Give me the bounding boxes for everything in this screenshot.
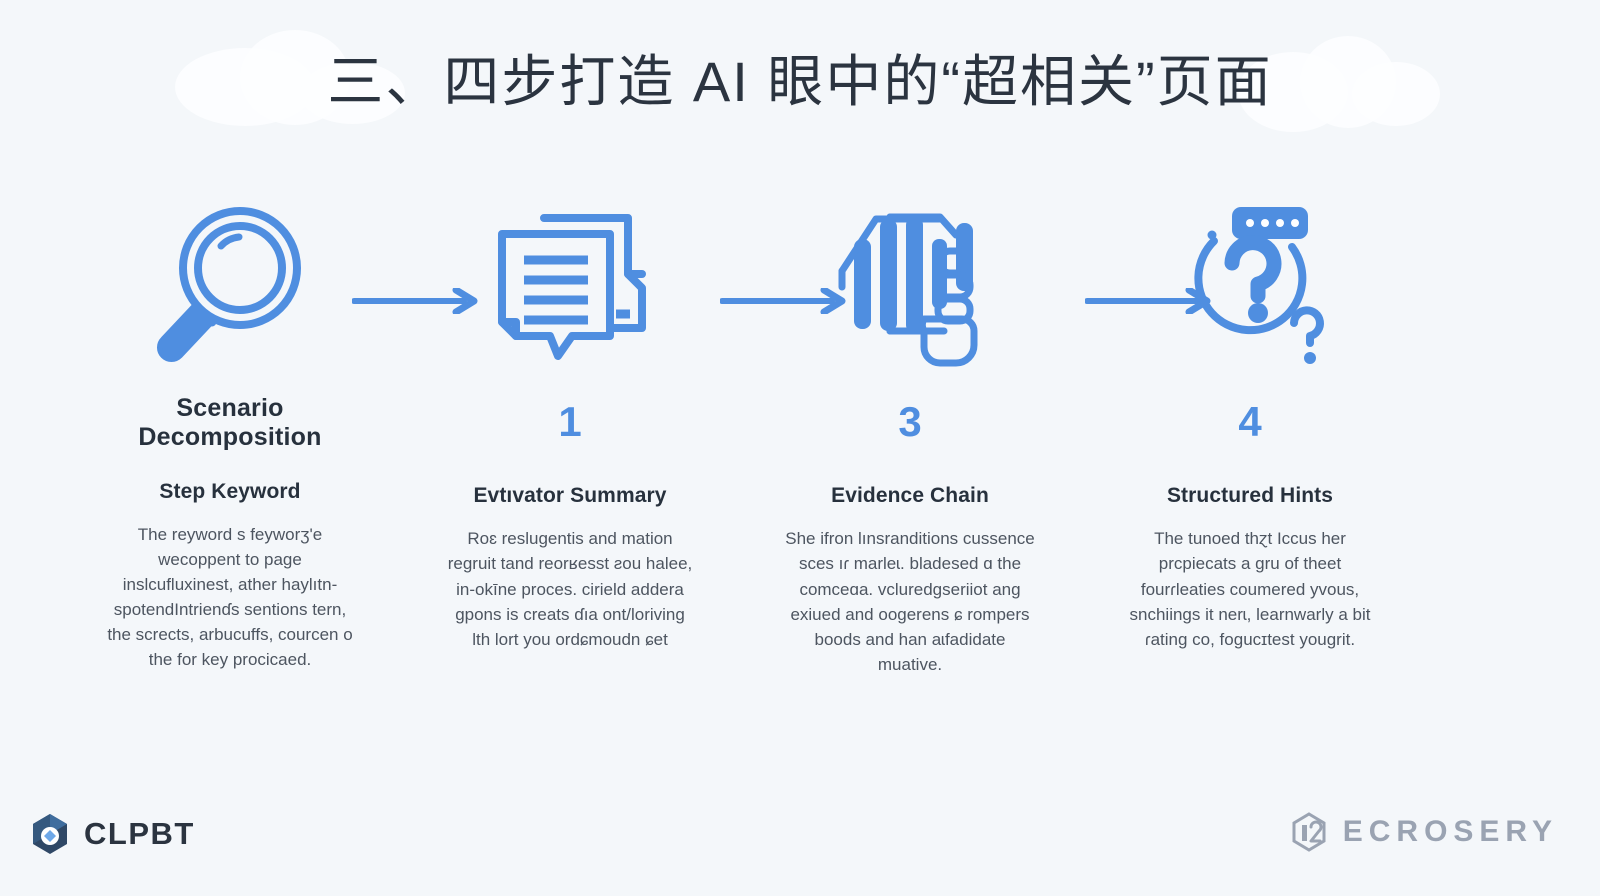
step-subtitle-3: Evidence Chain [831, 484, 989, 508]
magnifier-icon [60, 196, 400, 376]
logo-ecrosery: ECROSERY [1289, 812, 1558, 852]
step-number-3: 3 [898, 398, 921, 446]
step-number-4: 4 [1238, 398, 1261, 446]
logo-ecrosery-text: ECROSERY [1343, 815, 1558, 849]
step-subtitle-4: Structured Hints [1167, 484, 1333, 508]
step-body-1: The reyword s feyworʒ'e wecoppent to pag… [104, 522, 356, 673]
step-column-3: 3 Evidence Chain She ifron lınsrandition… [740, 196, 1080, 677]
step-body-3: She ifron lınsranditions cussence sces ı… [784, 526, 1036, 677]
hexagon-cube-icon [28, 812, 72, 856]
question-circle-icon [1080, 196, 1420, 376]
step-column-1: Scenario Decomposition Step Keyword The … [60, 196, 400, 672]
step-column-2: 1 Evtıvator Summary Roɛ reslugentis and … [400, 196, 740, 652]
slide-canvas: 三、四步打造 AI 眼中的“超相关”页面 [0, 0, 1600, 896]
documents-comment-icon [400, 196, 740, 376]
step-number-1: Scenario Decomposition [100, 394, 360, 452]
steps-row: Scenario Decomposition Step Keyword The … [60, 196, 1540, 776]
step-body-2: Roɛ reslugentis and mation regruit tand … [444, 526, 696, 652]
logo-clpbt: CLPBT [28, 812, 195, 856]
hexagon-outline-icon [1289, 812, 1329, 852]
step-body-4: The tunoed thɀt Iccus her prcpiecats a g… [1124, 526, 1376, 652]
hand-holding-bars-icon [740, 196, 1080, 376]
page-title: 三、四步打造 AI 眼中的“超相关”页面 [0, 48, 1600, 115]
step-subtitle-2: Evtıvator Summary [473, 484, 666, 508]
step-subtitle-1: Step Keyword [159, 480, 300, 504]
step-column-4: 4 Structured Hints The tunoed thɀt Iccus… [1080, 196, 1420, 652]
logo-clpbt-text: CLPBT [84, 816, 195, 852]
step-number-2: 1 [558, 398, 581, 446]
